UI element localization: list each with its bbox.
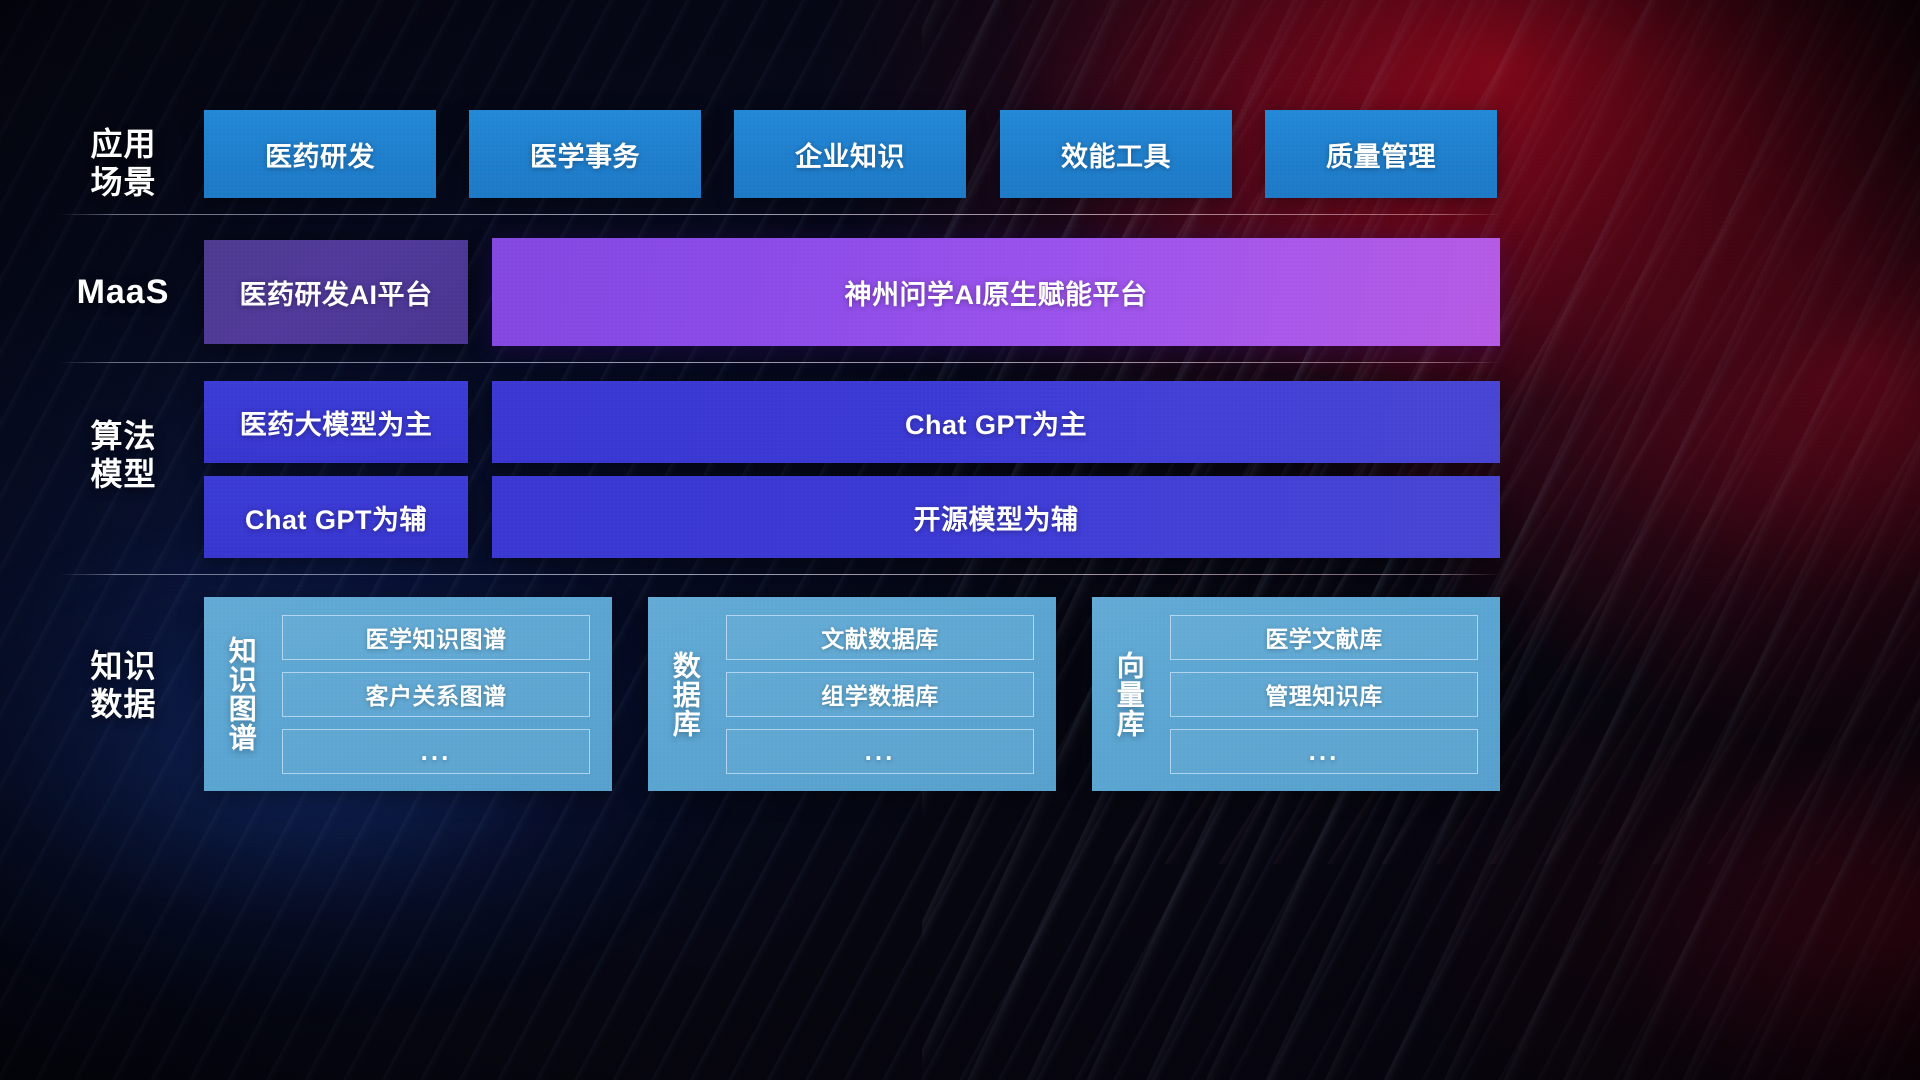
maas-box-shenzhou-platform[interactable]: 神州问学AI原生赋能平台: [492, 238, 1500, 346]
knowledge-item-2-3[interactable]: ...: [726, 729, 1034, 774]
app-scenario-label-1: 医药研发: [265, 135, 375, 174]
algorithm-label-chatgpt-main: Chat GPT为主: [905, 403, 1087, 442]
knowledge-group-title-2: 数据库: [648, 597, 722, 791]
divider-3: [60, 574, 1500, 575]
knowledge-group-knowledge-graph[interactable]: 知识图谱 医学知识图谱 客户关系图谱 ...: [204, 597, 612, 791]
knowledge-item-3-3[interactable]: ...: [1170, 729, 1478, 774]
row-label-knowledge: 知识 数据: [66, 648, 181, 724]
row-label-application: 应用 场景: [66, 126, 181, 202]
knowledge-item-1-2[interactable]: 客户关系图谱: [282, 672, 590, 717]
divider-2: [60, 362, 1500, 363]
row-label-algorithm: 算法 模型: [66, 418, 181, 494]
app-scenario-label-4: 效能工具: [1061, 135, 1171, 174]
app-scenario-label-5: 质量管理: [1326, 135, 1436, 174]
app-scenario-label-3: 企业知识: [795, 135, 905, 174]
app-scenario-label-2: 医学事务: [530, 135, 640, 174]
knowledge-group-title-3: 向量库: [1092, 597, 1166, 791]
app-scenario-box-2[interactable]: 医学事务: [469, 110, 701, 198]
knowledge-group-items-1: 医学知识图谱 客户关系图谱 ...: [278, 597, 612, 791]
app-scenario-box-1[interactable]: 医药研发: [204, 110, 436, 198]
maas-box-pharma-platform[interactable]: 医药研发AI平台: [204, 240, 468, 344]
app-scenario-box-5[interactable]: 质量管理: [1265, 110, 1497, 198]
knowledge-group-database[interactable]: 数据库 文献数据库 组学数据库 ...: [648, 597, 1056, 791]
algorithm-box-pharma-main[interactable]: 医药大模型为主: [204, 381, 468, 463]
algorithm-box-opensource-aux[interactable]: 开源模型为辅: [492, 476, 1500, 558]
maas-label-pharma-platform: 医药研发AI平台: [240, 273, 433, 312]
row-label-maas: MaaS: [58, 272, 188, 312]
algorithm-box-chatgpt-main[interactable]: Chat GPT为主: [492, 381, 1500, 463]
divider-1: [60, 214, 1500, 215]
knowledge-item-3-1[interactable]: 医学文献库: [1170, 615, 1478, 660]
knowledge-item-3-2[interactable]: 管理知识库: [1170, 672, 1478, 717]
algorithm-label-chatgpt-aux: Chat GPT为辅: [245, 498, 427, 537]
maas-label-shenzhou-platform: 神州问学AI原生赋能平台: [845, 273, 1148, 312]
knowledge-item-1-3[interactable]: ...: [282, 729, 590, 774]
knowledge-item-2-1[interactable]: 文献数据库: [726, 615, 1034, 660]
algorithm-label-opensource-aux: 开源模型为辅: [914, 498, 1079, 537]
knowledge-group-title-1: 知识图谱: [204, 597, 278, 791]
algorithm-box-chatgpt-aux[interactable]: Chat GPT为辅: [204, 476, 468, 558]
knowledge-item-2-2[interactable]: 组学数据库: [726, 672, 1034, 717]
knowledge-group-items-3: 医学文献库 管理知识库 ...: [1166, 597, 1500, 791]
knowledge-group-items-2: 文献数据库 组学数据库 ...: [722, 597, 1056, 791]
knowledge-item-1-1[interactable]: 医学知识图谱: [282, 615, 590, 660]
knowledge-group-vector-store[interactable]: 向量库 医学文献库 管理知识库 ...: [1092, 597, 1500, 791]
app-scenario-box-4[interactable]: 效能工具: [1000, 110, 1232, 198]
algorithm-label-pharma-main: 医药大模型为主: [240, 403, 433, 442]
app-scenario-box-3[interactable]: 企业知识: [734, 110, 966, 198]
architecture-diagram-slide: 应用 场景 医药研发 医学事务 企业知识 效能工具 质量管理 MaaS 医药研发…: [0, 0, 1920, 1080]
